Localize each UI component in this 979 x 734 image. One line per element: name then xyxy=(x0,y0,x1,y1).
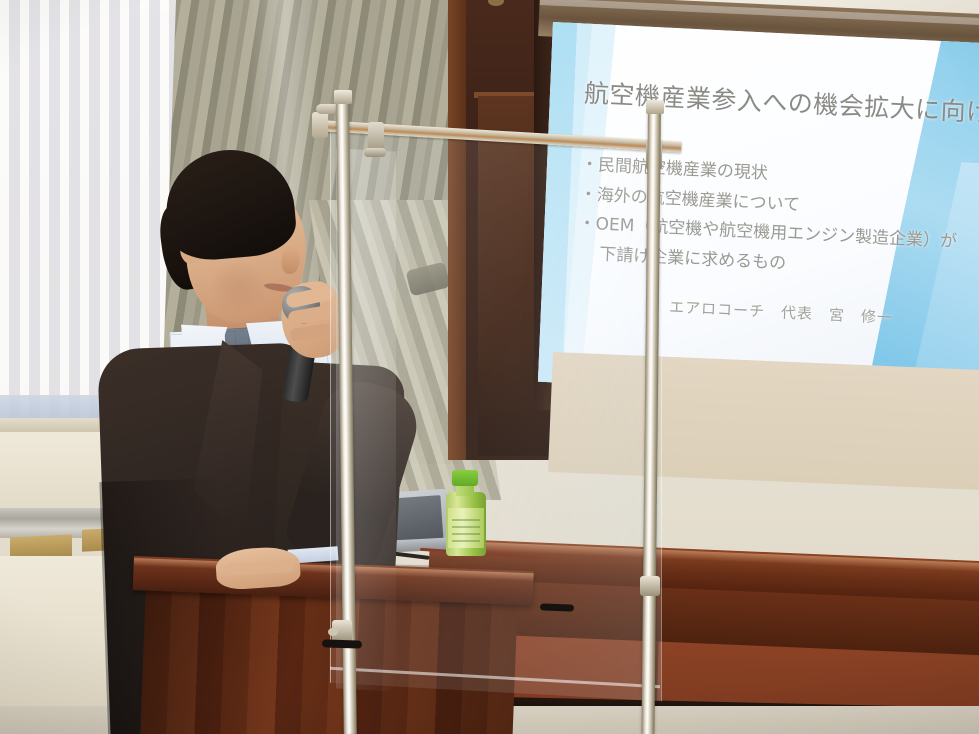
pole-cap-left xyxy=(334,90,352,104)
pole-cap-right xyxy=(646,100,664,114)
black-clip xyxy=(540,603,574,611)
photo-scene: 航空機産業参入への機会拡大に向けて ・民間航空機産業の現状 ・海外の航空機産業に… xyxy=(0,0,979,734)
pole-collar-right xyxy=(640,576,660,596)
rail-clamp-bracket xyxy=(364,148,386,157)
cheek-shading xyxy=(208,260,268,314)
black-clip xyxy=(322,639,362,648)
hair xyxy=(162,145,299,264)
pole-adjust-knob xyxy=(328,628,338,636)
rail-end-cap xyxy=(312,112,328,138)
